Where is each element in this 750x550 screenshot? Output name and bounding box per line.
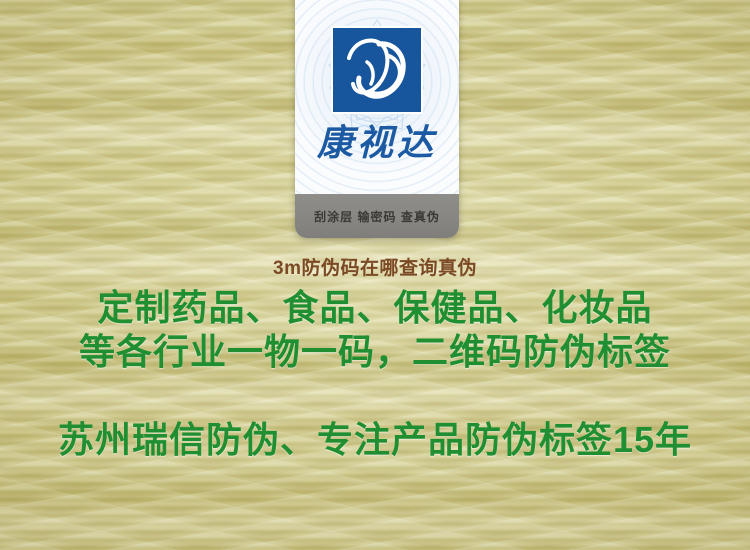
scratch-panel-label: 刮涂层 输密码 查真伪 [314,208,440,225]
swirl-shell-logo-icon [333,28,421,112]
company-tagline: 苏州瑞信防伪、专注产品防伪标签15年 [0,411,750,463]
promo-banner: 康视达 刮涂层 输密码 查真伪 3m防伪码在哪查询真伪 定制药品、食品、保健品、… [0,0,750,550]
headline-line-2: 等各行业一物一码，二维码防伪标签 [0,323,750,375]
anti-counterfeit-label-card: 康视达 刮涂层 输密码 查真伪 [295,0,459,238]
scratch-off-panel[interactable]: 刮涂层 输密码 查真伪 [295,194,459,238]
sub-headline: 3m防伪码在哪查询真伪 [0,253,750,280]
brand-name: 康视达 [295,114,459,166]
